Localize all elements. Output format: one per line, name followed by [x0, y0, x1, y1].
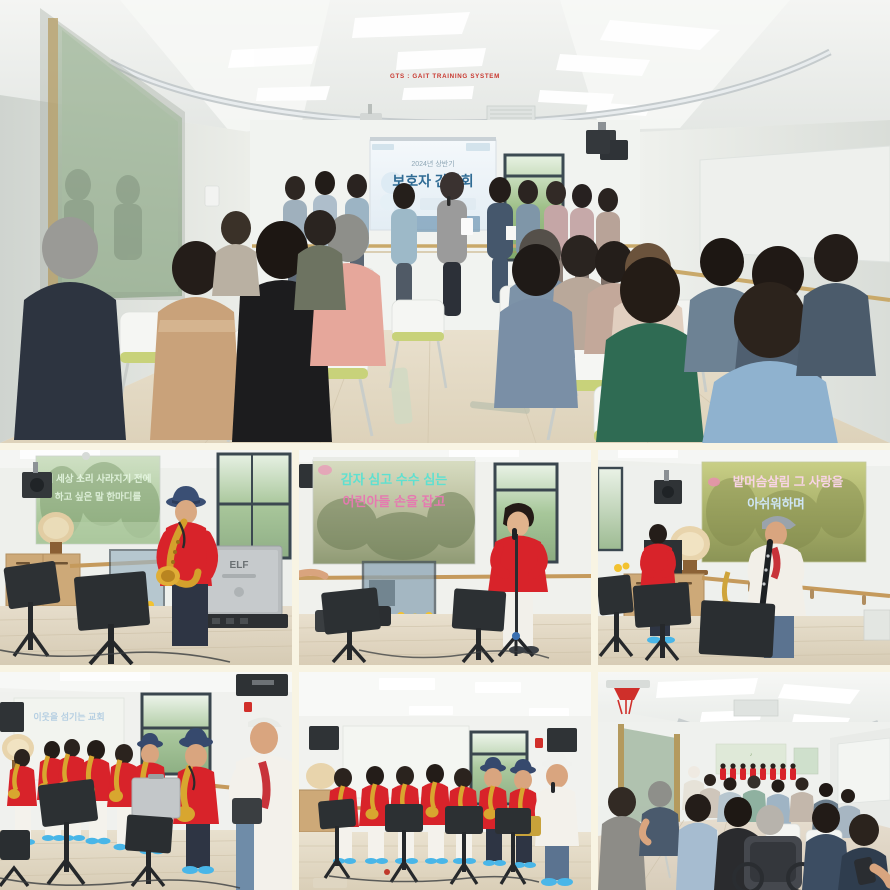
sax-solo-scene: 이 세상 소리 사라지기 전에 하고 싶은 말 한마디를 [0, 450, 292, 665]
ensemble-angle-scene: 이웃을 섬기는 교회 [0, 672, 292, 890]
collage-row-bottom: 이웃을 섬기는 교회 [0, 672, 890, 890]
photo-clarinet-white-jacket: 밭머슴살림 그 사랑을 아쉬워하며 [598, 450, 890, 665]
lyric-line-2: 하고 싶은 말 한마디를 [55, 491, 142, 503]
lyric-line-1: 밭머슴살림 그 사랑을 [733, 474, 844, 489]
photo-sax-ensemble-front [299, 672, 591, 890]
collage-row-middle: 이 세상 소리 사라지기 전에 하고 싶은 말 한마디를 [0, 450, 890, 665]
vocalist-scene: 감자 심고 수수 심는 어린아들 손을 잡고 [299, 450, 591, 665]
amp-brand-label: ELF [230, 560, 249, 571]
photo-sax-solo-blue-hat: 이 세상 소리 사라지기 전에 하고 싶은 말 한마디를 [0, 450, 292, 665]
lyric-line-2: 아쉬워하며 [747, 496, 805, 511]
screen-text: 이웃을 섬기는 교회 [33, 711, 104, 722]
slide-subtitle: 2024년 상반기 [411, 159, 454, 168]
photo-collage: GTS : GAIT TRAINING SYSTEM [0, 0, 890, 890]
photo-main-briefing: GTS : GAIT TRAINING SYSTEM [0, 0, 890, 443]
collage-row-top: GTS : GAIT TRAINING SYSTEM [0, 0, 890, 443]
lyric-line-1: 감자 심고 수수 심는 [341, 472, 448, 487]
lyric-line-1: 이 세상 소리 사라지기 전에 [45, 473, 152, 485]
clarinet-scene: 밭머슴살림 그 사랑을 아쉬워하며 [598, 450, 890, 665]
audience-back-scene: ♪ [598, 672, 890, 890]
ensemble-front-scene [299, 672, 591, 890]
music-stand-monitor-right [699, 600, 776, 658]
lyric-line-2: 어린아들 손을 잡고 [343, 494, 446, 509]
photo-audience-back-view: ♪ [598, 672, 890, 890]
ceiling-rail-label: GTS : GAIT TRAINING SYSTEM [390, 73, 500, 80]
photo-sax-ensemble-angle: 이웃을 섬기는 교회 [0, 672, 292, 890]
main-briefing-scene: GTS : GAIT TRAINING SYSTEM [0, 0, 890, 443]
photo-female-vocalist: 감자 심고 수수 심는 어린아들 손을 잡고 [299, 450, 591, 665]
